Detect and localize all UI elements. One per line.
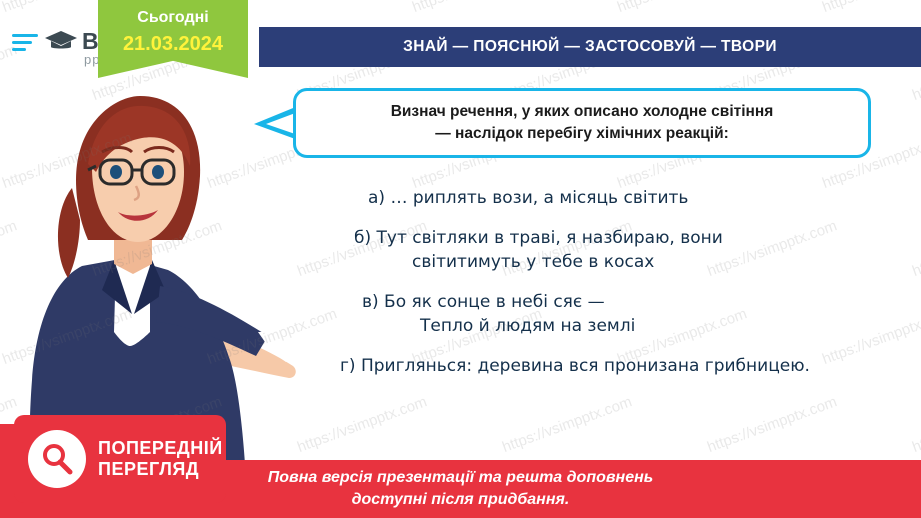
answer-option-v: в) Бо як сонце в небі сяє — Тепло й людя…	[362, 290, 900, 338]
preview-badge[interactable]: ПОПЕРЕДНІЙ ПЕРЕГЛЯД	[14, 415, 226, 503]
question-line-1: Визнач речення, у яких описано холодне с…	[391, 101, 774, 123]
graduation-cap-icon	[44, 30, 78, 50]
watermark-text: https://vsimpptx.com	[910, 217, 921, 280]
logo-lines-icon	[12, 34, 38, 55]
bottom-banner-line-1: Повна версія презентації та решта доповн…	[268, 467, 654, 489]
watermark-text: https://vsimpptx.com	[820, 0, 921, 16]
preview-badge-line-2: ПЕРЕГЛЯД	[98, 459, 223, 480]
answer-b-text-2: світитимуть у тебе в косах	[412, 250, 900, 274]
watermark-text: https://vsimpptx.com	[910, 393, 921, 456]
answer-v-text: в) Бо як сонце в небі сяє —	[362, 292, 605, 312]
answer-option-g: г) Приглянься: деревина вся пронизана гр…	[340, 354, 900, 378]
header-bar: ЗНАЙ — ПОЯСНЮЙ — ЗАСТОСОВУЙ — ТВОРИ	[259, 27, 921, 67]
answer-option-b: б) Тут світляки в траві, я назбираю, вон…	[354, 226, 900, 274]
answer-g-text: г) Приглянься: деревина вся пронизана гр…	[340, 356, 810, 376]
question-line-2: — наслідок перебігу хімічних реакцій:	[435, 123, 729, 145]
answer-a-text: а) … риплять вози, а місяць світить	[368, 188, 688, 208]
watermark-text: https://vsimpptx.com	[705, 393, 839, 456]
watermark-text: https://vsimpptx.com	[410, 0, 544, 16]
magnifier-icon	[28, 430, 86, 488]
question-callout: Визнач речення, у яких описано холодне с…	[293, 88, 871, 158]
watermark-text: https://vsimpptx.com	[295, 393, 429, 456]
answers-list: а) … риплять вози, а місяць світить б) Т…	[300, 186, 900, 394]
preview-badge-line-1: ПОПЕРЕДНІЙ	[98, 438, 223, 459]
slide-root: BCIM pptx Сьогодні 21.03.2024 ЗНАЙ — ПОЯ…	[0, 0, 921, 518]
answer-v-text-2: Тепло й людям на землі	[420, 314, 900, 338]
watermark-text: https://vsimpptx.com	[615, 0, 749, 16]
watermark-text: https://vsimpptx.com	[500, 393, 634, 456]
bottom-banner-line-2: доступні після придбання.	[352, 489, 570, 511]
preview-badge-text: ПОПЕРЕДНІЙ ПЕРЕГЛЯД	[98, 438, 223, 480]
header-title: ЗНАЙ — ПОЯСНЮЙ — ЗАСТОСОВУЙ — ТВОРИ	[403, 38, 777, 56]
date-value: 21.03.2024	[98, 33, 248, 56]
date-label: Сьогодні	[98, 9, 248, 27]
answer-option-a: а) … риплять вози, а місяць світить	[368, 186, 900, 210]
answer-b-text: б) Тут світляки в траві, я назбираю, вон…	[354, 228, 723, 248]
